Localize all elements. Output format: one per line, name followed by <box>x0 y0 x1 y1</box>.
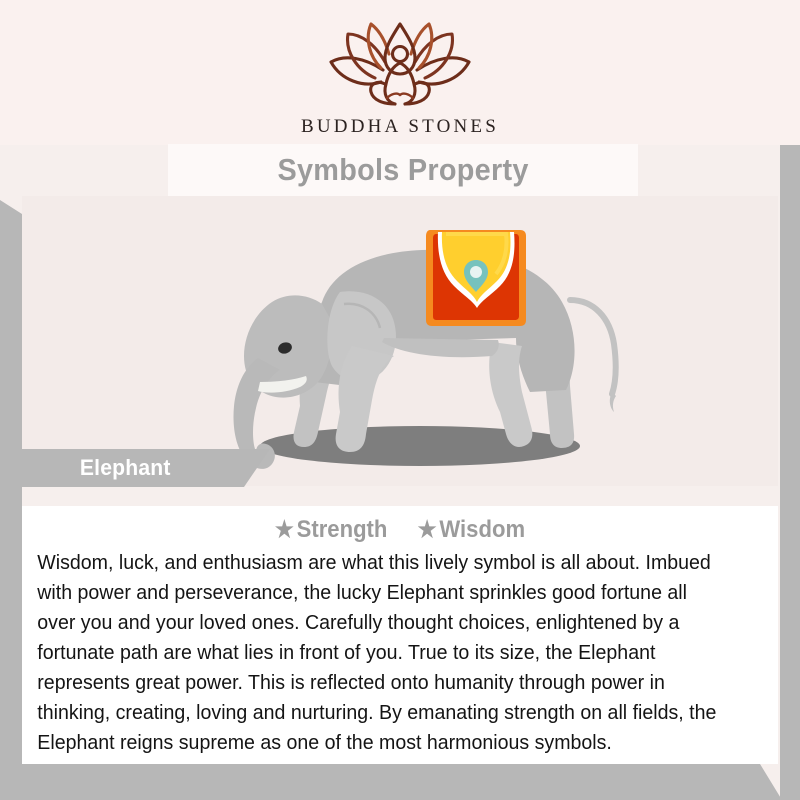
attribute-strength: ★Strength <box>275 516 388 544</box>
left-frame-bar <box>0 200 22 800</box>
lotus-meditation-icon <box>325 18 475 116</box>
walking-elephant-illustration <box>22 196 778 486</box>
illustration-stage <box>22 196 778 486</box>
symbol-label: Elephant <box>80 455 171 481</box>
brand-name: BUDDHA STONES <box>0 116 800 138</box>
bottom-frame-bar <box>0 764 800 800</box>
attribute-wisdom-label: Wisdom <box>440 516 526 543</box>
star-icon: ★ <box>275 516 294 542</box>
symbol-label-banner: Elephant <box>22 449 270 487</box>
star-icon: ★ <box>418 516 437 542</box>
attribute-wisdom: ★Wisdom <box>418 516 525 544</box>
symbol-property-card: BUDDHA STONES Symbols Property <box>0 0 800 800</box>
title-banner: Symbols Property <box>168 144 638 196</box>
brand-logo <box>0 18 800 121</box>
symbol-description: Wisdom, luck, and enthusiasm are what th… <box>22 546 744 758</box>
page-title: Symbols Property <box>277 152 528 188</box>
card-header: BUDDHA STONES <box>0 0 800 145</box>
symbol-attributes: ★Strength ★Wisdom <box>22 506 778 546</box>
symbol-text-panel: ★Strength ★Wisdom Wisdom, luck, and enth… <box>22 506 778 764</box>
attribute-strength-label: Strength <box>297 516 388 543</box>
